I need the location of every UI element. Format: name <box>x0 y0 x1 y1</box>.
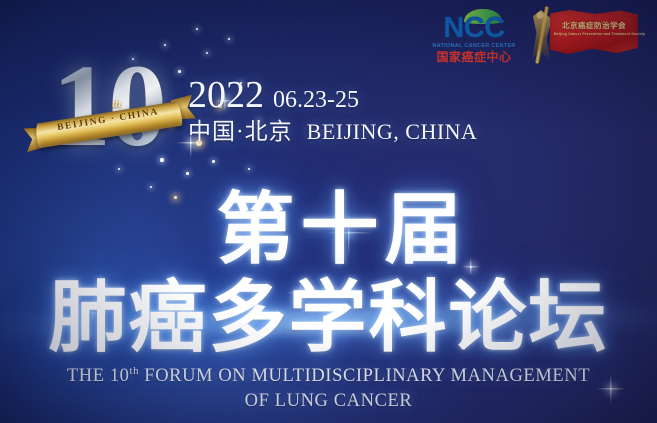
emblem-ordinal-suffix: th <box>112 98 121 110</box>
conference-poster: 10 th BEIJING · CHINA 2022 06.23-25 中国·北… <box>0 0 657 423</box>
background-vignette <box>0 0 657 423</box>
